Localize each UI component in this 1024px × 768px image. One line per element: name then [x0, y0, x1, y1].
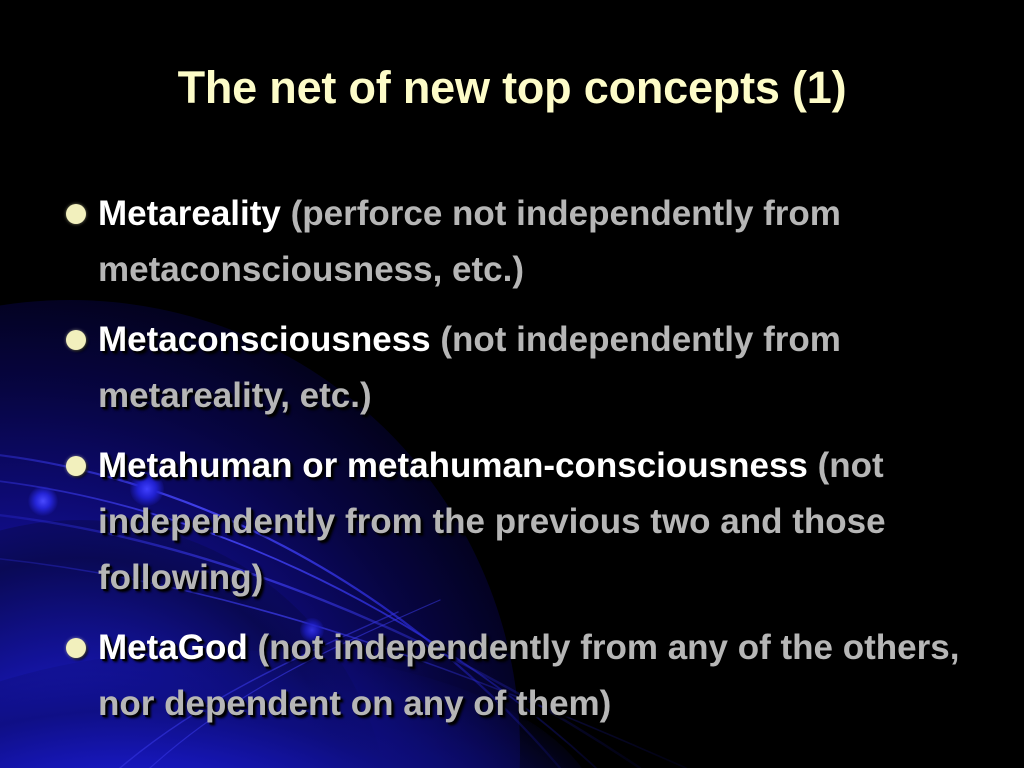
bullet-dot-icon: [66, 204, 86, 224]
bullet-item-metagod: MetaGod (not independently from any of t…: [58, 620, 993, 732]
bullet-dot-icon: [66, 330, 86, 350]
bullet-term: Metareality: [98, 194, 291, 233]
bullet-item-metareality: Metareality (perforce not independently …: [58, 186, 993, 298]
bullet-item-metahuman: Metahuman or metahuman-consciousness (no…: [58, 438, 993, 606]
bullet-term: Metahuman or metahuman-consciousness: [98, 446, 818, 485]
slide-title: The net of new top concepts (1): [0, 62, 1024, 114]
bullet-term: Metaconsciousness: [98, 320, 440, 359]
bullet-dot-icon: [66, 638, 86, 658]
bullet-term: MetaGod: [98, 628, 257, 667]
bullet-list: Metareality (perforce not independently …: [58, 186, 993, 732]
sparkle-dot-icon: [28, 486, 58, 516]
presentation-slide: The net of new top concepts (1) Metareal…: [0, 0, 1024, 768]
bullet-item-metaconsciousness: Metaconsciousness (not independently fro…: [58, 312, 993, 424]
bullet-dot-icon: [66, 456, 86, 476]
